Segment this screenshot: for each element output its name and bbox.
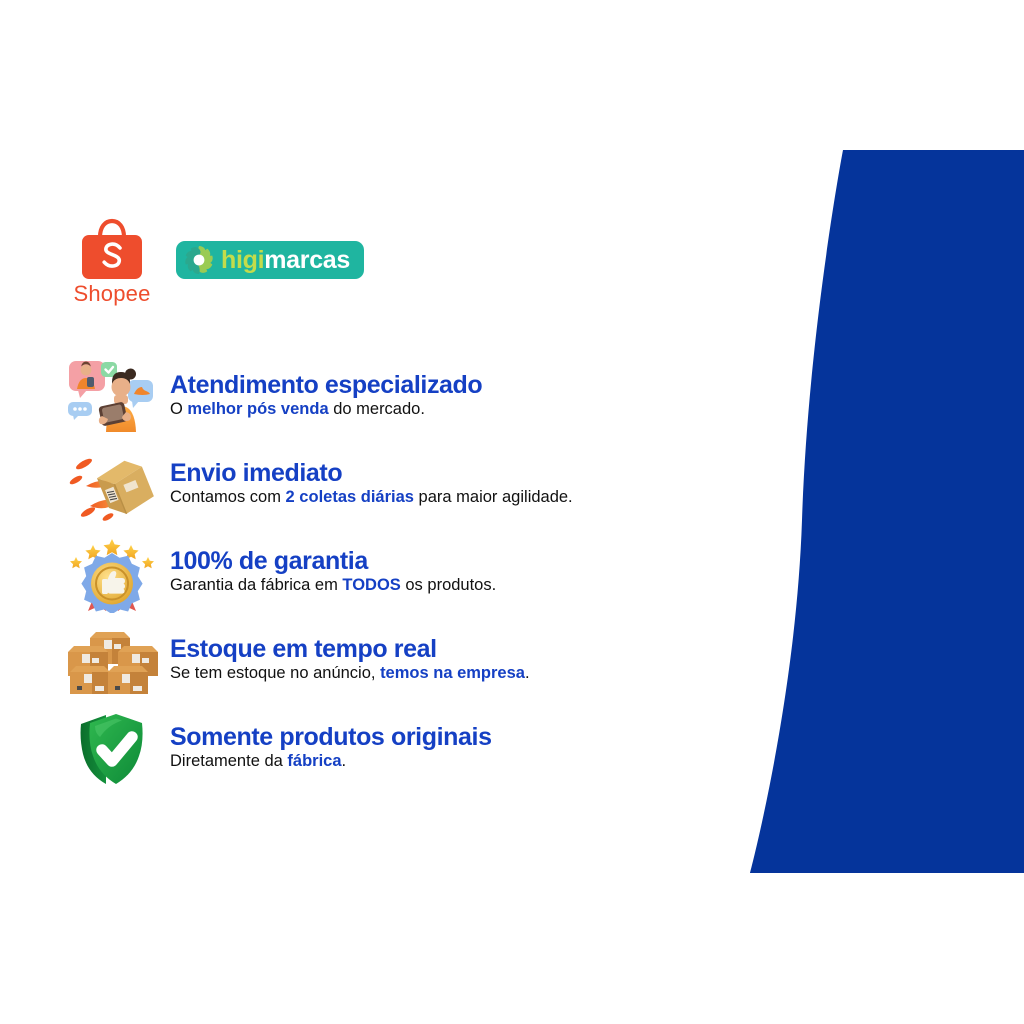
brand-logo-row: Shopee	[70, 215, 364, 305]
feature-item-atendimento: Atendimento especializado O melhor pós v…	[64, 352, 764, 440]
higimarcas-word-part-2: marcas	[264, 246, 350, 274]
feature-text-atendimento: Atendimento especializado O melhor pós v…	[170, 371, 764, 422]
promo-banner: Shopee	[0, 0, 1024, 1024]
feature-subtitle: Diretamente da fábrica.	[170, 752, 764, 772]
feature-item-originais: Somente produtos originais Diretamente d…	[64, 704, 764, 792]
feature-item-envio: Envio imediato Contamos com 2 coletas di…	[64, 440, 764, 528]
feature-sub-after: do mercado.	[329, 400, 425, 418]
shopee-wordmark: Shopee	[73, 283, 150, 305]
rocket-package-icon	[64, 443, 160, 525]
guarantee-badge-icon	[64, 531, 160, 613]
feature-text-originais: Somente produtos originais Diretamente d…	[170, 723, 764, 774]
feature-list: Atendimento especializado O melhor pós v…	[64, 352, 764, 792]
feature-title: Envio imediato	[170, 459, 764, 487]
green-shield-check-icon	[64, 707, 160, 789]
feature-sub-after: para maior agilidade.	[414, 488, 573, 506]
shopee-bag-icon	[76, 215, 148, 281]
feature-text-estoque: Estoque em tempo real Se tem estoque no …	[170, 635, 764, 686]
feature-title: 100% de garantia	[170, 547, 764, 575]
feature-item-estoque: Estoque em tempo real Se tem estoque no …	[64, 616, 764, 704]
feature-item-garantia: 100% de garantia Garantia da fábrica em …	[64, 528, 764, 616]
higimarcas-word-part-1: higi	[221, 246, 264, 274]
higimarcas-logo: higimarcas	[176, 241, 364, 279]
feature-sub-bold: melhor pós venda	[187, 400, 328, 418]
feature-subtitle: Se tem estoque no anúncio, temos na empr…	[170, 664, 764, 684]
feature-sub-after: .	[342, 752, 347, 770]
feature-sub-before: Se tem estoque no anúncio,	[170, 664, 380, 682]
higimarcas-wordmark: higimarcas	[221, 248, 350, 273]
customer-service-icon	[64, 355, 160, 437]
feature-sub-before: O	[170, 400, 187, 418]
feature-text-envio: Envio imediato Contamos com 2 coletas di…	[170, 459, 764, 510]
feature-title: Atendimento especializado	[170, 371, 764, 399]
feature-subtitle: Contamos com 2 coletas diárias para maio…	[170, 488, 764, 508]
feature-text-garantia: 100% de garantia Garantia da fábrica em …	[170, 547, 764, 598]
shopee-logo: Shopee	[70, 215, 154, 305]
feature-sub-bold: temos na empresa	[380, 664, 525, 682]
feature-subtitle: O melhor pós venda do mercado.	[170, 400, 764, 420]
feature-sub-before: Contamos com	[170, 488, 286, 506]
stacked-boxes-icon	[64, 619, 160, 701]
feature-sub-after: .	[525, 664, 530, 682]
feature-title: Somente produtos originais	[170, 723, 764, 751]
feature-sub-bold: TODOS	[342, 576, 400, 594]
feature-sub-before: Diretamente da	[170, 752, 287, 770]
feature-title: Estoque em tempo real	[170, 635, 764, 663]
feature-sub-bold: 2 coletas diárias	[286, 488, 414, 506]
pinwheel-icon	[182, 243, 216, 277]
blue-wave-decoration	[724, 0, 1024, 1024]
feature-subtitle: Garantia da fábrica em TODOS os produtos…	[170, 576, 764, 596]
feature-sub-before: Garantia da fábrica em	[170, 576, 342, 594]
feature-sub-after: os produtos.	[401, 576, 496, 594]
feature-sub-bold: fábrica	[287, 752, 341, 770]
